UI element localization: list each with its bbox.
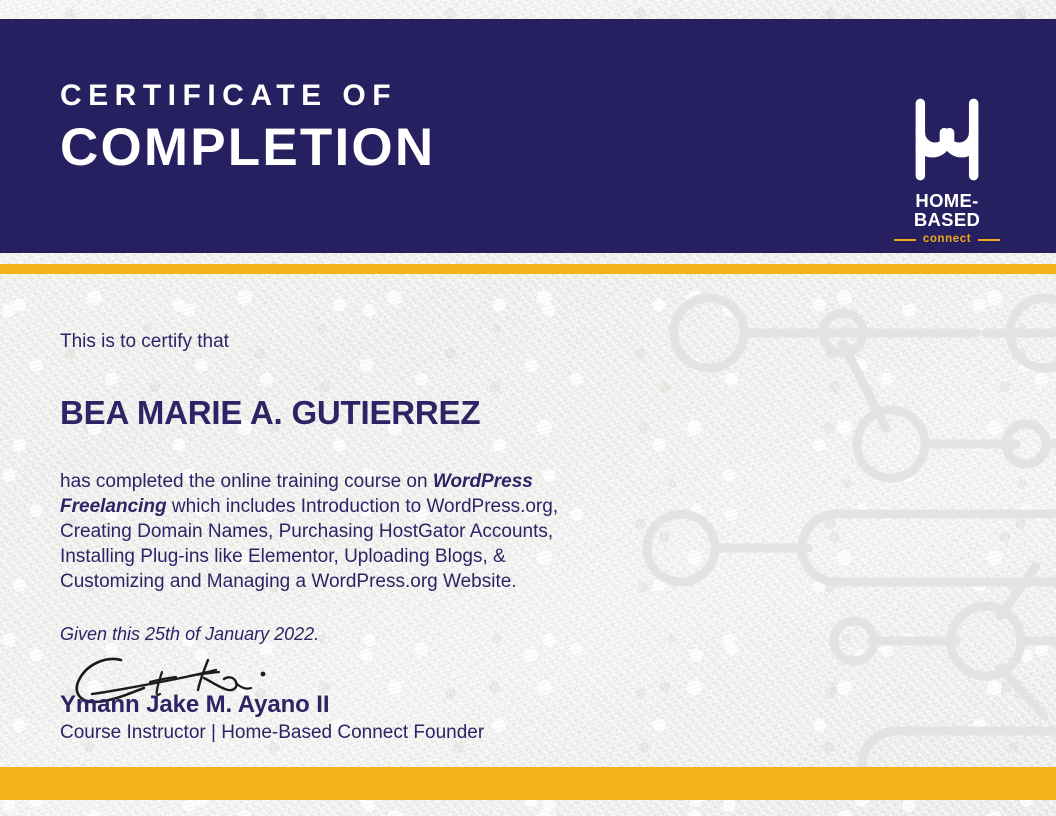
description-prefix: has completed the online training course… [60,471,433,492]
page-title: COMPLETION [60,121,435,174]
yellow-rule-top [0,264,1056,274]
brand-tagline-row: connect [883,234,1011,246]
brand-wordmark: HOME-BASED [883,192,1011,229]
issue-date: Given this 25th of January 2022. [60,624,319,646]
course-description: has completed the online training course… [60,469,588,594]
tagline-rule-left [894,239,916,241]
recipient-name: BEA MARIE A. GUTIERREZ [60,396,620,429]
certificate-body: This is to certify that BEA MARIE A. GUT… [60,330,620,594]
home-based-connect-h-logo-icon [904,93,990,186]
brand-tagline: connect [923,234,971,246]
signer-role: Course Instructor | Home-Based Connect F… [60,722,484,745]
page-title-eyebrow: CERTIFICATE OF [60,81,435,111]
tagline-rule-right [978,239,1000,241]
certificate-heading: CERTIFICATE OF COMPLETION [60,81,435,174]
intro-text: This is to certify that [60,330,620,354]
brand-logo: HOME-BASED connect [883,93,1011,246]
header-band: CERTIFICATE OF COMPLETION HOME-BASED con… [0,19,1056,253]
signer-name: Ymann Jake M. Ayano II [60,692,329,718]
certificate-canvas: CERTIFICATE OF COMPLETION HOME-BASED con… [0,0,1056,816]
yellow-rule-bottom [0,767,1056,800]
